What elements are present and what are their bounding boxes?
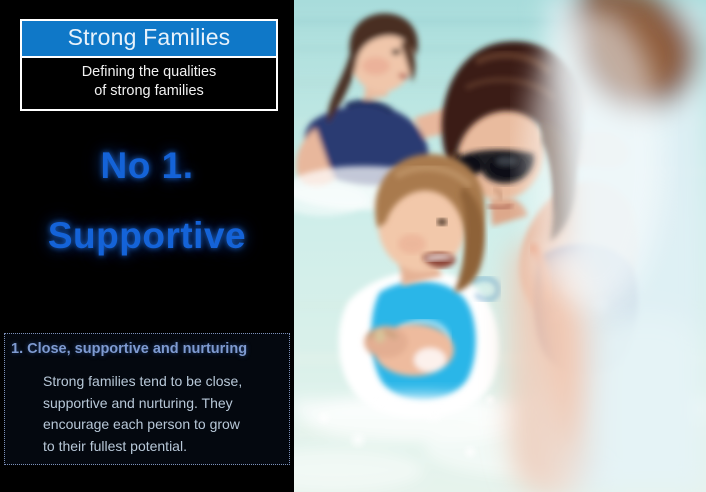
slide-canvas: Strong Families Defining the qualities o… [0, 0, 706, 492]
heading-number: No 1. [0, 144, 294, 188]
body-box-paragraph: Strong families tend to be close, suppor… [5, 358, 289, 457]
paragraph-line-4: to their fullest potential. [43, 436, 279, 458]
left-content-panel: Strong Families Defining the qualities o… [0, 0, 294, 492]
body-text-box: 1. Close, supportive and nurturing Stron… [4, 333, 290, 465]
heading-keyword: Supportive [0, 214, 294, 258]
title-bar: Strong Families [22, 21, 276, 56]
family-beach-photo [294, 0, 706, 492]
slide-subtitle: Defining the qualities of strong familie… [22, 58, 276, 109]
subtitle-line-2: of strong families [26, 82, 272, 101]
subtitle-line-1: Defining the qualities [26, 63, 272, 82]
body-box-heading: 1. Close, supportive and nurturing [5, 334, 289, 358]
slide-title: Strong Families [68, 24, 231, 50]
photo-illustration [294, 0, 706, 492]
paragraph-line-1: Strong families tend to be close, [43, 371, 279, 393]
paragraph-line-3: encourage each person to grow [43, 414, 279, 436]
paragraph-line-2: supportive and nurturing. They [43, 393, 279, 415]
title-block: Strong Families Defining the qualities o… [20, 19, 278, 111]
